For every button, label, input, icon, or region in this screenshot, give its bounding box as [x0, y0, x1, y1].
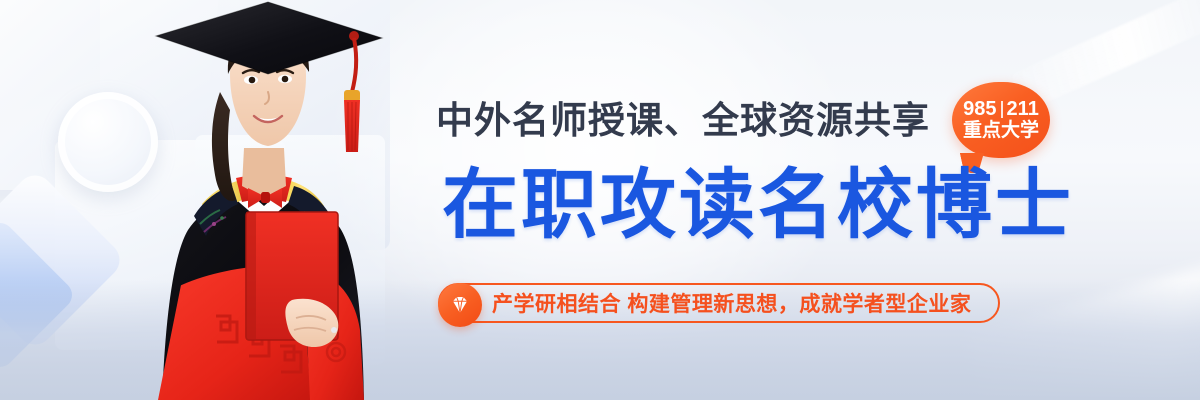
badge-985-label: 985	[963, 99, 996, 120]
banner-content: 中外名师授课、全球资源共享 985 211 重点大学 在职攻读名校博士 产学研相…	[436, 0, 1056, 400]
banner-tagline: 中外名师授课、全球资源共享	[436, 102, 930, 139]
slogan-text: 产学研相结合 构建管理新思想，成就学者型企业家	[492, 288, 971, 318]
graduate-photo	[96, 0, 426, 400]
slogan-pill: 产学研相结合 构建管理新思想，成就学者型企业家	[438, 283, 1000, 323]
promo-banner: 中外名师授课、全球资源共享 985 211 重点大学 在职攻读名校博士 产学研相…	[0, 0, 1200, 400]
badge-bottom-label: 重点大学	[963, 121, 1039, 142]
badge-top-line: 985 211	[963, 99, 1039, 120]
badge-985-211: 985 211 重点大学	[952, 82, 1050, 158]
banner-headline: 在职攻读名校博士	[442, 168, 1074, 244]
tagline-row: 中外名师授课、全球资源共享 985 211 重点大学	[436, 92, 1050, 148]
badge-211-label: 211	[1007, 99, 1039, 120]
diamond-gem-icon	[438, 283, 482, 327]
badge-separator-icon	[1001, 101, 1003, 118]
